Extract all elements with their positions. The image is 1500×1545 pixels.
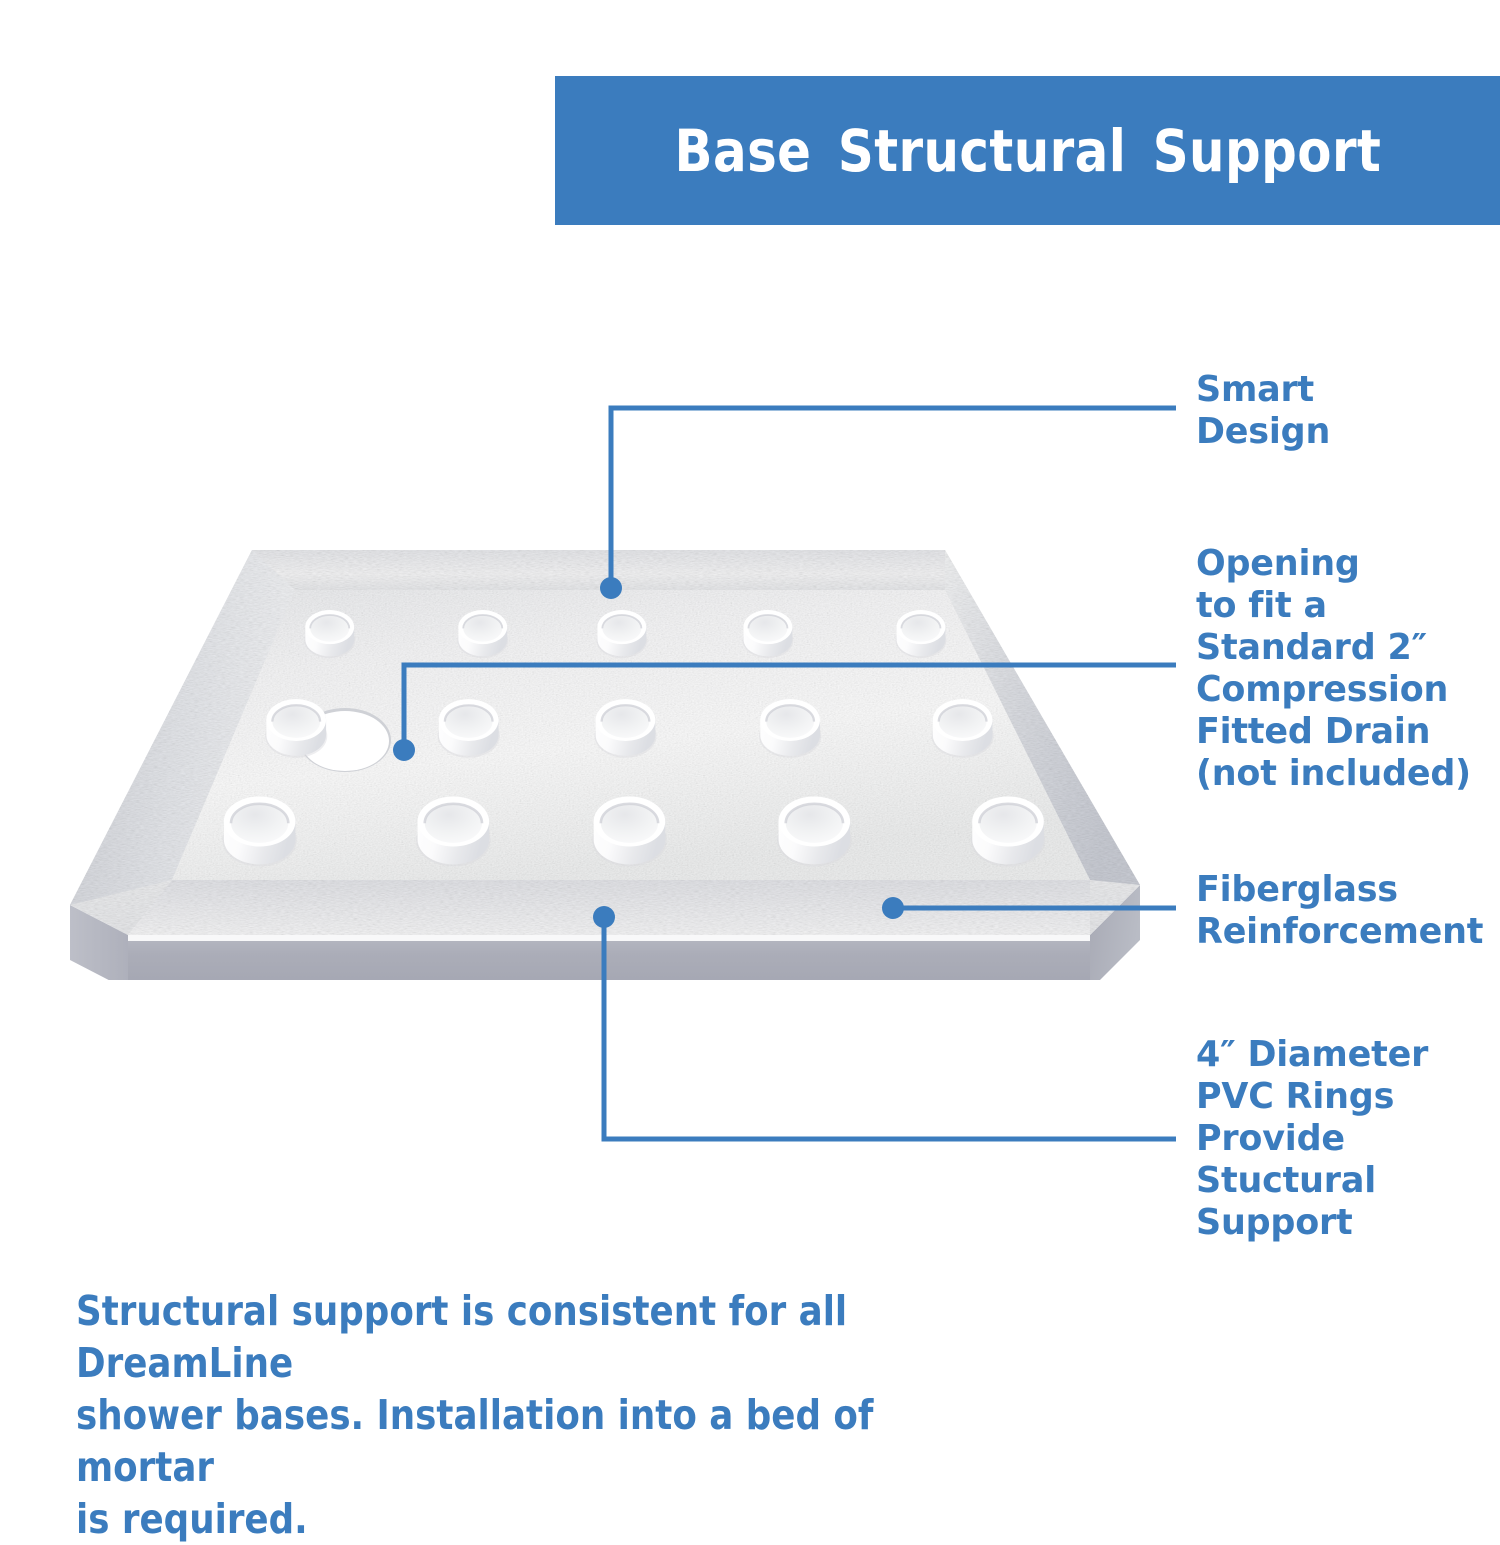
pvc-ring [592,796,666,866]
callout-fiberglass: Fiberglass Reinforcement [1196,869,1487,953]
footer-note: Structural support is consistent for all… [76,1285,894,1545]
page-title: Base Structural Support [674,117,1381,185]
pvc-ring [265,699,327,758]
product-illustration [40,520,1180,980]
pvc-ring [304,610,355,658]
callout-drain-opening: Opening to fit a Standard 2″ Compression… [1196,543,1487,795]
callout-smart-design: Smart Design [1196,369,1487,453]
infographic-canvas: Base Structural Support [0,0,1500,1500]
pvc-ring [777,796,851,866]
pvc-ring [932,699,994,758]
pvc-ring [594,699,656,758]
pvc-ring [596,610,647,658]
pvc-ring [971,796,1045,866]
pvc-ring [457,610,508,658]
pvc-ring [416,796,490,866]
pvc-ring [743,610,794,658]
header-banner: Base Structural Support [555,76,1500,225]
front-edge-highlight [128,935,1090,941]
pvc-ring [759,699,821,758]
pvc-ring [222,796,296,866]
pvc-ring [438,699,500,758]
callout-pvc-rings: 4″ Diameter PVC Rings Provide Stuctural … [1196,1034,1487,1244]
pvc-ring [896,610,947,658]
